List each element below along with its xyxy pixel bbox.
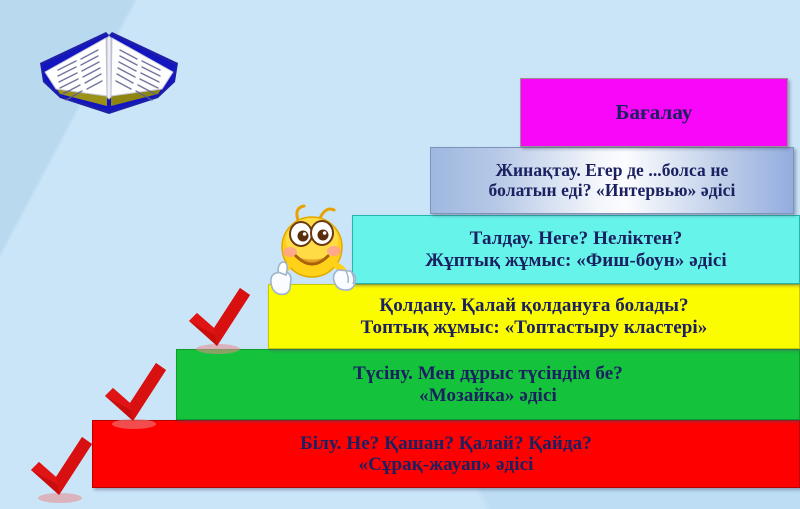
step-understand-line-1: Түсіну. Мен дұрыс түсіндім бе? xyxy=(353,363,623,384)
check-mark-icon xyxy=(100,358,174,432)
step-know-line-2: «Сұрақ-жауап» әдісі xyxy=(358,454,533,475)
step-evaluate-line-1: Бағалау xyxy=(615,101,692,125)
step-know[interactable]: Білу. Не? Қашан? Қалай? Қайда? «Сұрақ-жа… xyxy=(92,420,800,488)
step-synthesize-line-2: болатын еді? «Интервью» әдісі xyxy=(488,181,735,201)
step-understand[interactable]: Түсіну. Мен дұрыс түсіндім бе? «Мозайка»… xyxy=(176,349,800,420)
step-understand-line-2: «Мозайка» әдісі xyxy=(419,385,557,406)
step-analyze-line-2: Жұптық жұмыс: «Фиш-боун» әдісі xyxy=(425,250,727,271)
open-book-icon xyxy=(36,26,182,118)
step-analyze[interactable]: Талдау. Неге? Неліктен? Жұптық жұмыс: «Ф… xyxy=(352,215,800,284)
smiley-thumbs-up-icon xyxy=(258,200,374,300)
step-analyze-line-1: Талдау. Неге? Неліктен? xyxy=(470,228,683,249)
step-evaluate[interactable]: Бағалау xyxy=(520,78,788,147)
slide-canvas: Білу. Не? Қашан? Қалай? Қайда? «Сұрақ-жа… xyxy=(0,0,800,509)
step-apply-line-1: Қолдану. Қалай қолдануға болады? xyxy=(379,295,688,316)
step-synthesize[interactable]: Жинақтау. Егер де ...болса не болатын ед… xyxy=(430,147,794,214)
step-synthesize-line-1: Жинақтау. Егер де ...болса не xyxy=(496,161,729,181)
check-mark-icon xyxy=(184,283,258,357)
check-mark-icon xyxy=(26,432,100,506)
step-apply-line-2: Топтық жұмыс: «Топтастыру кластері» xyxy=(361,317,708,338)
step-know-line-1: Білу. Не? Қашан? Қалай? Қайда? xyxy=(300,433,592,454)
